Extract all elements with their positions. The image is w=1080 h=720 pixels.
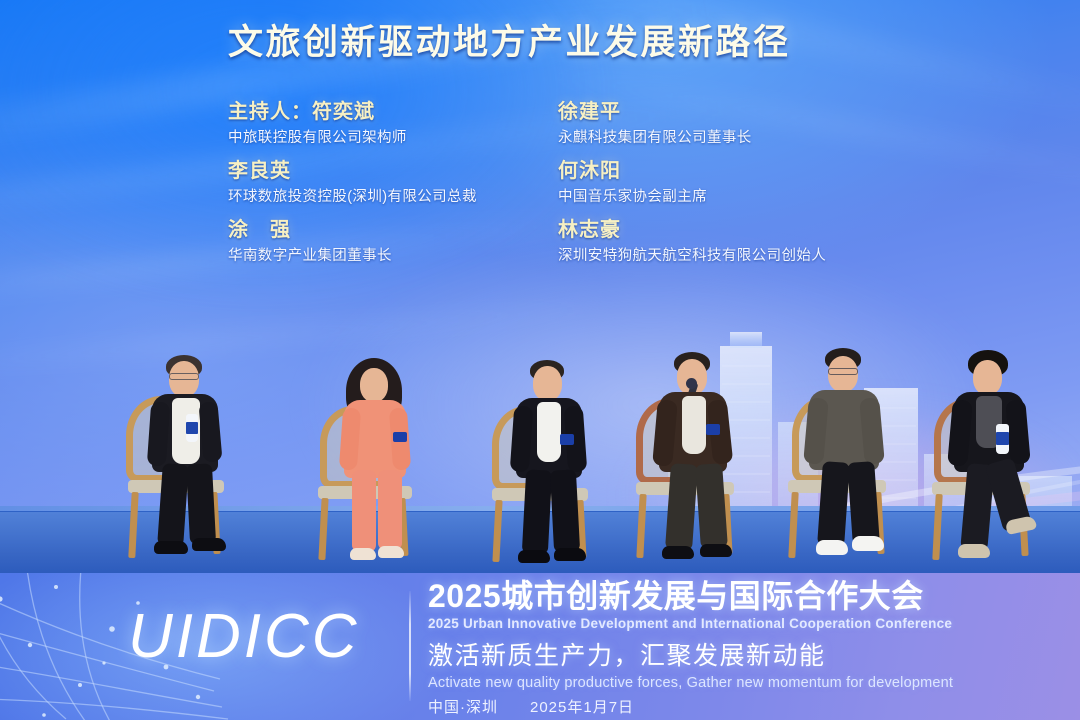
arm-right <box>198 401 222 462</box>
bottle-label <box>996 432 1009 445</box>
panelist-entry: 何沐阳 中国音乐家协会副主席 <box>558 159 888 207</box>
panelist-role: 中国音乐家协会副主席 <box>558 188 888 207</box>
panelist-5 <box>782 348 942 562</box>
panelist-role: 永麒科技集团有限公司董事长 <box>558 129 888 148</box>
shoe-right <box>554 548 586 561</box>
chair-leg <box>636 494 646 558</box>
leg-right <box>378 470 402 550</box>
shoe-right <box>192 538 226 551</box>
leg-right <box>550 469 580 552</box>
panelist-4 <box>630 352 790 564</box>
conference-name-cn: 2025城市创新发展与国际合作大会 <box>428 579 1068 615</box>
conference-location-date: 中国·深圳 2025年1月7日 <box>428 696 1068 717</box>
panelist-name: 徐建平 <box>558 100 888 125</box>
shoe-right <box>700 544 732 557</box>
panelist-6 <box>928 350 1080 564</box>
panelist-entry: 主持人：符奕斌 中旅联控股有限公司架构师 <box>228 100 528 148</box>
panelist-2 <box>310 358 470 566</box>
panelist-entry: 涂 强 华南数字产业集团董事长 <box>228 218 528 266</box>
head <box>533 366 562 401</box>
panelist-name: 主持人：符奕斌 <box>228 100 528 125</box>
panelist-entry: 林志豪 深圳安特狗航天航空科技有限公司创始人 <box>558 218 888 266</box>
panelist-column-right: 徐建平 永麒科技集团有限公司董事长 何沐阳 中国音乐家协会副主席 林志豪 深圳安… <box>558 100 888 277</box>
name-badge <box>560 434 574 445</box>
brandbar-text-block: 2025城市创新发展与国际合作大会 2025 Urban Innovative … <box>428 579 1068 717</box>
name-badge <box>706 424 720 435</box>
shoe-left <box>154 541 188 554</box>
shoe-left <box>350 548 376 560</box>
shoe-left <box>518 550 550 563</box>
leg-left <box>352 470 376 552</box>
head <box>973 360 1002 395</box>
conference-name-en: 2025 Urban Innovative Development and In… <box>428 616 1068 631</box>
panelist-entry: 李良英 环球数旅投资控股(深圳)有限公司总裁 <box>228 159 528 207</box>
panelist-name: 涂 强 <box>228 218 528 243</box>
panelist-column-left: 主持人：符奕斌 中旅联控股有限公司架构师 李良英 环球数旅投资控股(深圳)有限公… <box>228 100 528 277</box>
dress-shirt <box>537 402 561 462</box>
panelist-name: 李良英 <box>228 159 528 184</box>
bottle-label <box>186 422 198 434</box>
leg-right <box>847 461 880 545</box>
sneaker-right <box>852 536 884 551</box>
conference-slogan-cn: 激活新质生产力，汇聚发展新动能 <box>428 636 1068 672</box>
panelist-1 <box>122 352 282 562</box>
dress-shirt <box>682 396 706 454</box>
panelist-role: 华南数字产业集团董事长 <box>228 247 528 266</box>
chair-leg <box>318 498 328 560</box>
panelist-role: 中旅联控股有限公司架构师 <box>228 129 528 148</box>
arm-right <box>1005 399 1031 464</box>
glasses <box>169 373 199 380</box>
leg-left <box>522 469 552 554</box>
uidicc-logo: UIDICC <box>128 601 360 672</box>
chair-leg <box>492 500 502 562</box>
leg-right <box>695 463 728 549</box>
head <box>360 368 388 402</box>
panelist-name: 何沐阳 <box>558 159 888 184</box>
sneaker-left <box>816 540 848 555</box>
glasses <box>828 368 858 375</box>
leg-left <box>665 463 698 551</box>
panelist-3 <box>486 358 646 568</box>
brandbar-divider <box>409 591 411 701</box>
name-badge <box>393 432 407 442</box>
chair-leg <box>128 492 138 558</box>
sneaker-left <box>958 544 990 558</box>
leg-left <box>817 461 850 547</box>
panelist-role: 环球数旅投资控股(深圳)有限公司总裁 <box>228 188 528 207</box>
panelist-name: 林志豪 <box>558 218 888 243</box>
conference-brand-bar: UIDICC 2025城市创新发展与国际合作大会 2025 Urban Inno… <box>0 573 1080 720</box>
conference-photo-stage: 文旅创新驱动地方产业发展新路径 主持人：符奕斌 中旅联控股有限公司架构师 李良英… <box>0 0 1080 720</box>
shoe-left <box>662 546 694 559</box>
microphone-head <box>686 378 697 389</box>
conference-slogan-en: Activate new quality productive forces, … <box>428 675 1068 691</box>
leg-right <box>186 463 216 544</box>
panelist-entry: 徐建平 永麒科技集团有限公司董事长 <box>558 100 888 148</box>
chair-leg <box>932 494 942 560</box>
panelist-role: 深圳安特狗航天航空科技有限公司创始人 <box>558 247 888 266</box>
leg-left <box>157 463 189 547</box>
session-title: 文旅创新驱动地方产业发展新路径 <box>228 14 791 65</box>
chair-leg <box>788 492 798 558</box>
shoe-right <box>378 546 404 558</box>
panelist-list: 主持人：符奕斌 中旅联控股有限公司架构师 李良英 环球数旅投资控股(深圳)有限公… <box>0 100 1080 280</box>
